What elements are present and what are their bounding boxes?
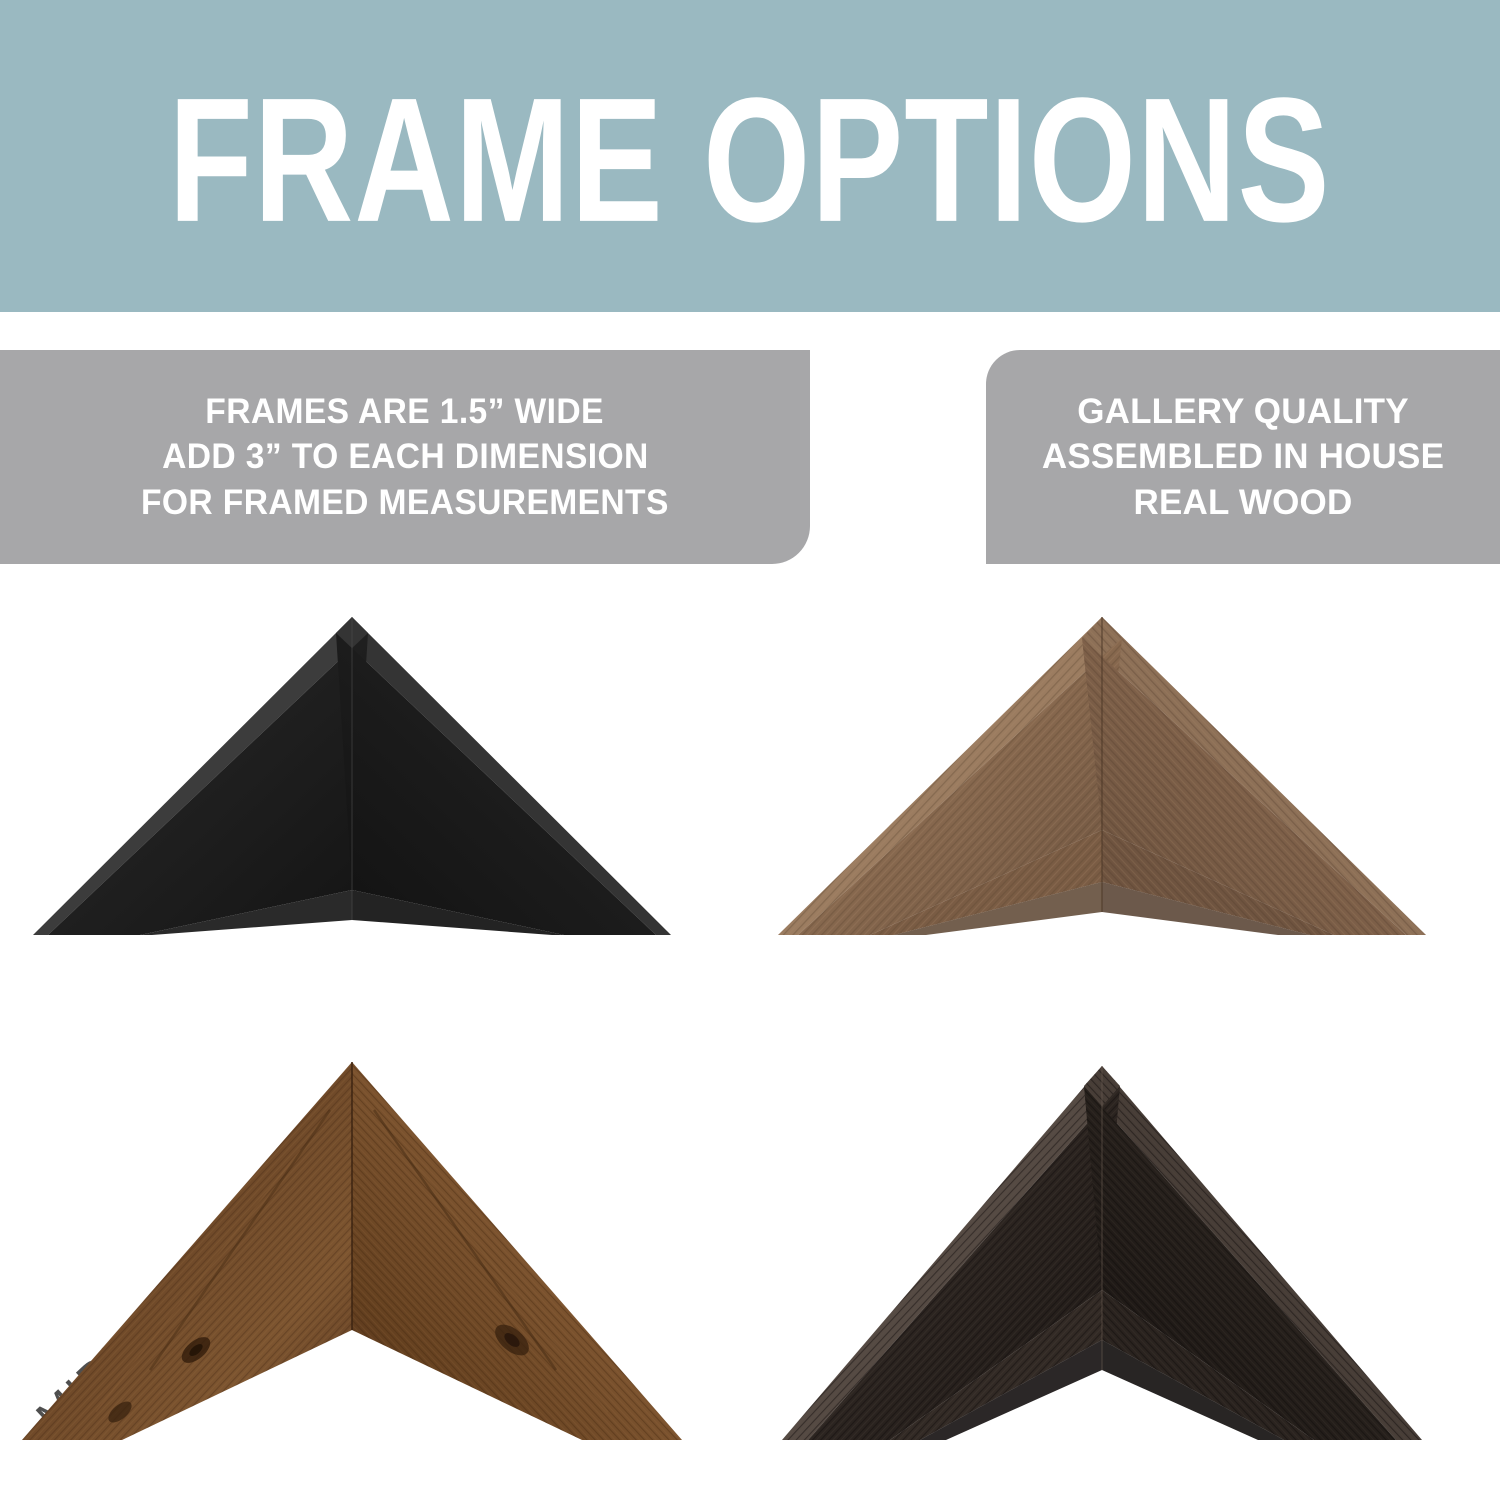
info-line: FOR FRAMED MEASUREMENTS	[141, 480, 669, 526]
frame-sample-driftwood[interactable]: DRIFTWOOD	[750, 590, 1500, 1050]
info-box-quality: GALLERY QUALITY ASSEMBLED IN HOUSE REAL …	[986, 350, 1500, 564]
info-line: FRAMES ARE 1.5” WIDE	[206, 389, 604, 435]
info-line: REAL WOOD	[1134, 480, 1353, 526]
frame-corner-farmhouse-icon	[0, 1040, 750, 1500]
frame-sample-midnight[interactable]: MIDNIGHT	[0, 590, 750, 1050]
info-line: ADD 3” TO EACH DIMENSION	[162, 434, 649, 480]
info-line: GALLERY QUALITY	[1077, 389, 1409, 435]
info-box-measurements: FRAMES ARE 1.5” WIDE ADD 3” TO EACH DIME…	[0, 350, 810, 564]
frame-corner-driftwood-icon	[750, 590, 1500, 1050]
frame-corner-midnight-icon	[0, 590, 750, 1050]
frame-corner-charcoal-icon	[750, 1040, 1500, 1500]
page-title: FRAME OPTIONS	[169, 64, 1331, 248]
frame-sample-farmhouse[interactable]: FARMHOUSE	[0, 1040, 750, 1500]
header-banner: FRAME OPTIONS	[0, 0, 1500, 312]
frame-options-infographic: FRAME OPTIONS FRAMES ARE 1.5” WIDE ADD 3…	[0, 0, 1500, 1500]
frame-sample-charcoal[interactable]: CHARCOAL	[750, 1040, 1500, 1500]
info-line: ASSEMBLED IN HOUSE	[1042, 434, 1444, 480]
